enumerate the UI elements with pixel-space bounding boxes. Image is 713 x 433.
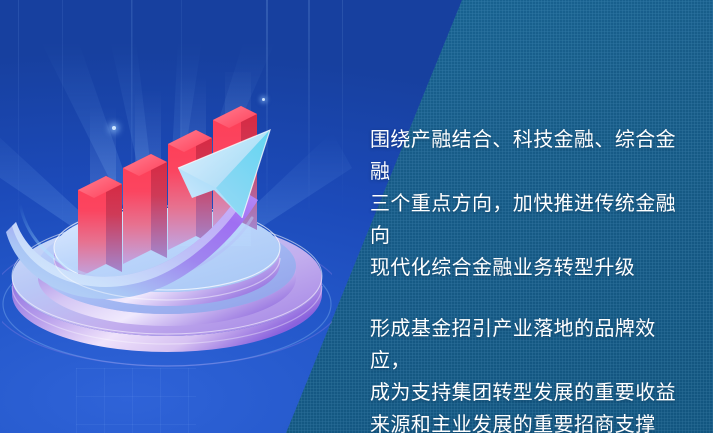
growth-chart-illustration [2, 72, 332, 372]
bar-2 [123, 154, 167, 264]
slide-canvas: 围绕产融结合、科技金融、综合金融 三个重点方向，加快推进传统金融向 现代化综合金… [0, 0, 713, 433]
grid-pattern-decoration [76, 368, 196, 433]
paragraph-1: 围绕产融结合、科技金融、综合金融 三个重点方向，加快推进传统金融向 现代化综合金… [370, 124, 690, 284]
bar-1 [78, 176, 122, 278]
copy-block: 围绕产融结合、科技金融、综合金融 三个重点方向，加快推进传统金融向 现代化综合金… [370, 104, 690, 433]
paragraph-2: 形成基金招引产业落地的品牌效应， 成为支持集团转型发展的重要收益 来源和主业发展… [370, 313, 690, 433]
